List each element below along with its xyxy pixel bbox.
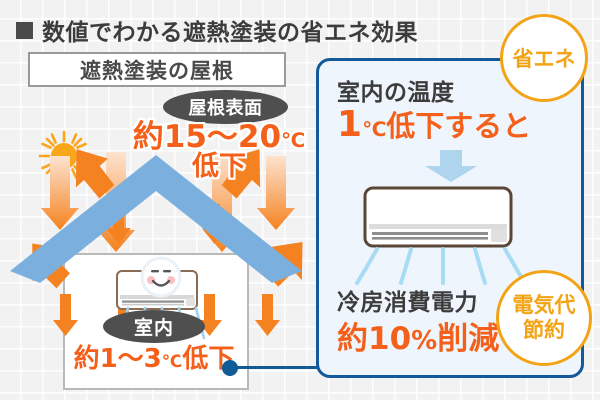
page-title: 数値でわかる遮熱塗装の省エネ効果: [16, 13, 418, 47]
airflow-icon: [353, 247, 525, 287]
right-indoor-temp-heading: 室内の温度: [337, 73, 455, 107]
right-indoor-temp-value: 1℃低下すると: [337, 103, 531, 145]
power-value: 約10%削減: [337, 313, 499, 358]
connector-dot: [222, 360, 238, 376]
indoor-badge-text: 室内: [134, 313, 174, 340]
roof-temp-value: 約15〜20℃ 低下: [128, 122, 310, 180]
badge-electric-bill-line1: 電気代: [513, 293, 576, 318]
roof-temp-number: 約15〜20: [133, 119, 281, 155]
power-value-number: 約10: [337, 321, 411, 357]
roof-temp-unit: ℃: [281, 128, 305, 152]
roof-temp-line1: 約15〜20℃: [128, 122, 310, 154]
badge-electric-bill-line2: 節約: [523, 318, 565, 343]
left-panel: 遮熱塗装の屋根: [0, 48, 310, 393]
square-bullet-icon: [16, 22, 33, 39]
badge-electric-bill: 電気代 節約: [496, 270, 592, 366]
roof-surface-badge-text: 屋根表面: [189, 94, 263, 120]
air-conditioner-icon: [363, 186, 513, 248]
power-value-suffix: 削減: [437, 321, 499, 357]
roof-label-box: 遮熱塗装の屋根: [28, 52, 286, 87]
smiley-face-icon: [140, 256, 182, 298]
power-value-percent: %: [411, 326, 437, 356]
right-indoor-temp-unit: ℃: [362, 117, 386, 141]
right-indoor-temp-number: 1: [337, 104, 362, 145]
down-arrow-icon: [423, 149, 479, 183]
right-indoor-temp-suffix: 低下すると: [386, 109, 531, 143]
indoor-temp-number: 約1〜3: [74, 344, 162, 374]
infographic-root: 数値でわかる遮熱塗装の省エネ効果 遮熱塗装の屋根: [0, 0, 600, 400]
roof-label-text: 遮熱塗装の屋根: [80, 55, 234, 85]
badge-energy-saving-text: 省エネ: [513, 43, 576, 73]
power-heading: 冷房消費電力: [337, 283, 478, 317]
indoor-temp-unit: ℃: [162, 352, 183, 372]
connector-line: [234, 366, 318, 369]
roof-temp-suffix: 低下: [128, 153, 310, 181]
badge-energy-saving: 省エネ: [500, 14, 588, 102]
page-title-text: 数値でわかる遮熱塗装の省エネ効果: [42, 13, 418, 47]
